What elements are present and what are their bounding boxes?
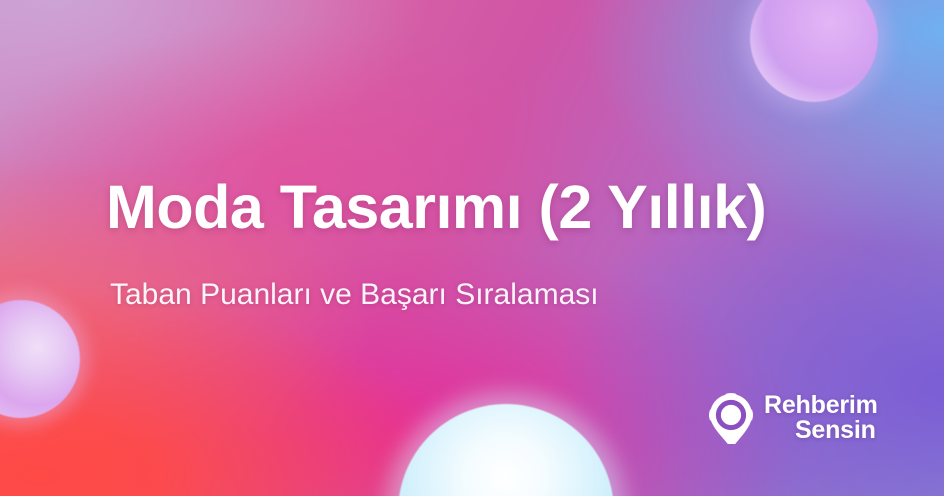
page-title: Moda Tasarımı (2 Yıllık) [106,175,766,239]
brand-name-line-1: Rehberim [764,393,878,419]
brand-logo[interactable]: Rehberim Sensin [708,392,878,444]
brand-name-line-2: Sensin [795,418,878,444]
map-pin-compass-icon [708,392,754,444]
page-subtitle: Taban Puanları ve Başarı Sıralaması [110,277,599,313]
hero-banner: Moda Tasarımı (2 Yıllık) Taban Puanları … [0,0,944,496]
brand-logo-text: Rehberim Sensin [764,393,878,444]
